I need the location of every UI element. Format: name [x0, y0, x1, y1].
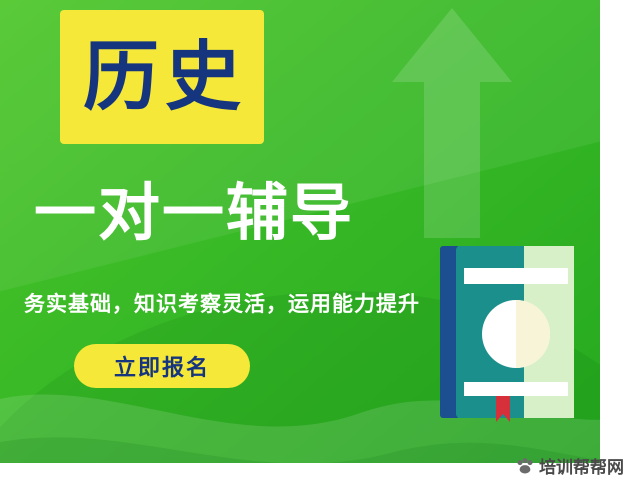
paw-logo-icon [515, 456, 535, 476]
course-promo-banner: 历史 一对一辅导 务实基础，知识考察灵活，运用能力提升 立即报名 [0, 0, 634, 486]
site-watermark: 培训帮帮网 [515, 453, 624, 478]
subject-label: 历史 [77, 39, 247, 115]
enroll-now-label: 立即报名 [114, 350, 210, 382]
up-arrow-icon [392, 8, 512, 238]
banner-subtitle: 务实基础，知识考察灵活，运用能力提升 [24, 288, 420, 318]
site-watermark-text: 培训帮帮网 [539, 453, 624, 478]
enroll-now-button[interactable]: 立即报名 [74, 344, 250, 388]
subject-tag: 历史 [60, 10, 264, 144]
banner-background: 历史 一对一辅导 务实基础，知识考察灵活，运用能力提升 立即报名 [0, 0, 600, 463]
book-icon [438, 246, 576, 422]
banner-headline: 一对一辅导 [34, 182, 354, 244]
